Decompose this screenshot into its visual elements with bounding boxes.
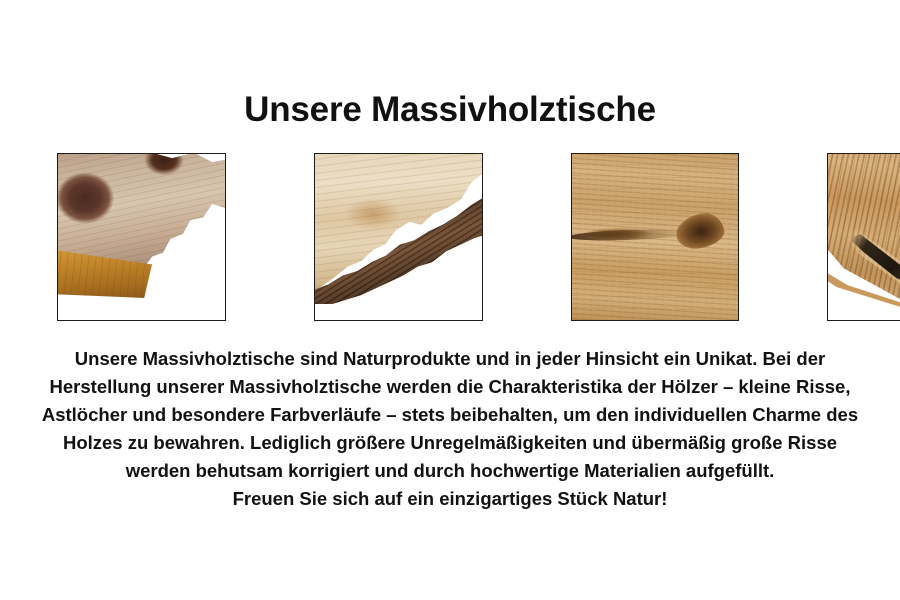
photo-grain-closeup-knot[interactable]: [571, 153, 739, 321]
photo-rough-sawn-crack[interactable]: [827, 153, 900, 321]
paragraph-line: Unsere Massivholztische sind Naturproduk…: [0, 345, 900, 373]
photo-burl-slab-corner[interactable]: [57, 153, 226, 321]
paragraph-line: Freuen Sie sich auf ein einzigartiges St…: [0, 485, 900, 513]
paragraph-line: Astlöcher und besondere Farbverläufe – s…: [0, 401, 900, 429]
photo-rough-sawn-crack-image: [828, 154, 900, 320]
paragraph-line: Holzes zu bewahren. Lediglich größere Un…: [0, 429, 900, 457]
product-info-page: Unsere Massivholztische: [0, 0, 900, 600]
photo-live-edge-light-wood[interactable]: [314, 153, 483, 321]
photo-burl-slab-corner-image: [58, 154, 225, 320]
paragraph-line: Herstellung unserer Massivholztische wer…: [0, 373, 900, 401]
wood-table-photo-strip: [17, 137, 883, 305]
paragraph-line: werden behutsam korrigiert und durch hoc…: [0, 457, 900, 485]
photo-grain-closeup-knot-image: [572, 154, 738, 320]
product-description-paragraph: Unsere Massivholztische sind Naturproduk…: [0, 345, 900, 513]
page-title: Unsere Massivholztische: [0, 89, 900, 131]
photo-live-edge-light-wood-image: [315, 154, 482, 320]
